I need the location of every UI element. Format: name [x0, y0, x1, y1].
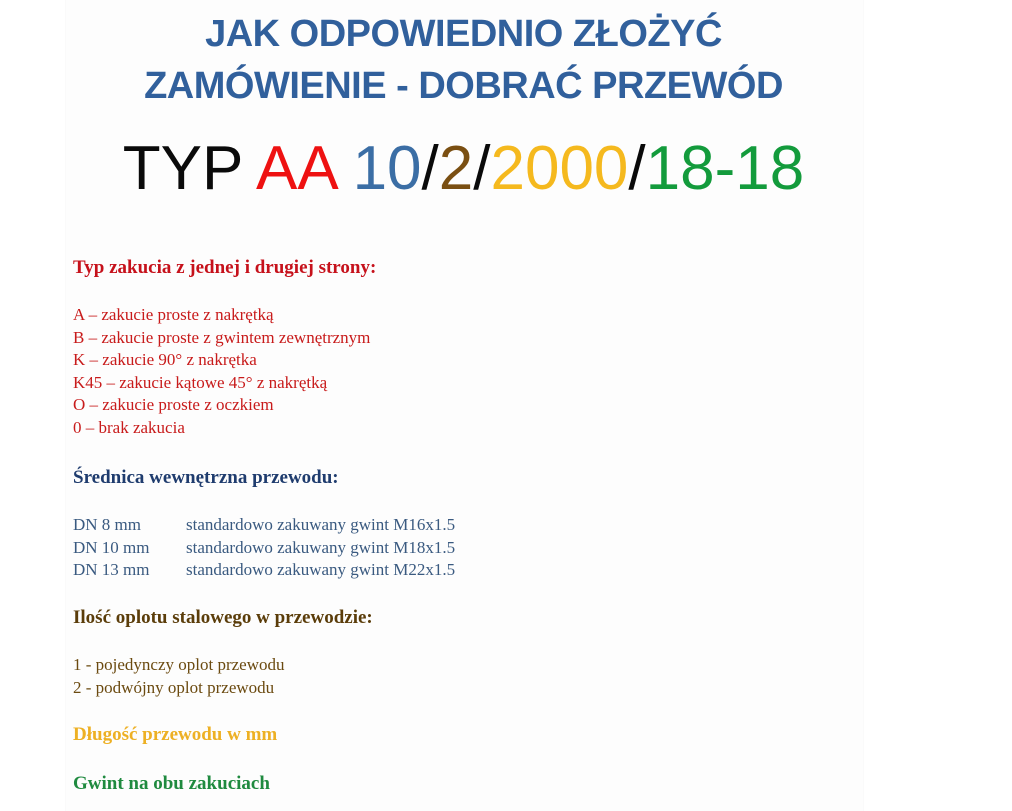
table-row: DN 8 mmstandardowo zakuwany gwint M16x1.… — [73, 514, 455, 537]
product-code-line: TYP AA 10/2/2000/18-18 — [65, 132, 862, 206]
dn-label: DN 8 mm — [73, 514, 186, 537]
code-segment-inner-diameter: 10 — [353, 134, 422, 203]
list-item: 1 - pojedynczy oplot przewodu — [73, 654, 373, 677]
dn-value: standardowo zakuwany gwint M18x1.5 — [186, 537, 455, 560]
dn-label: DN 10 mm — [73, 537, 186, 560]
section-thread-heading: Gwint na obu zakuciach — [73, 772, 270, 796]
section-fitting-type-heading: Typ zakucia z jednej i drugiej strony: — [73, 256, 376, 280]
list-item: O – zakucie proste z oczkiem — [73, 394, 376, 417]
list-item: K45 – zakucie kątowe 45° z nakrętką — [73, 372, 376, 395]
code-segment-typ: TYP — [123, 134, 256, 203]
code-segment-thread: 18-18 — [646, 134, 805, 203]
section-inner-diameter-heading: Średnica wewnętrzna przewodu: — [73, 466, 455, 490]
section-inner-diameter-body: DN 8 mmstandardowo zakuwany gwint M16x1.… — [73, 514, 455, 582]
page-title-line-2: ZAMÓWIENIE - DOBRAĆ PRZEWÓD — [65, 60, 862, 112]
list-item: B – zakucie proste z gwintem zewnętrznym — [73, 327, 376, 350]
list-item: 2 - podwójny oplot przewodu — [73, 677, 373, 700]
page-title: JAK ODPOWIEDNIO ZŁOŻYĆ ZAMÓWIENIE - DOBR… — [65, 8, 862, 112]
code-segment-slash-3: / — [628, 134, 645, 203]
dn-label: DN 13 mm — [73, 559, 186, 582]
section-braid-count: Ilość oplotu stalowego w przewodzie: 1 -… — [73, 606, 373, 699]
section-length-heading: Długość przewodu w mm — [73, 723, 277, 747]
code-segment-length: 2000 — [490, 134, 628, 203]
list-item: K – zakucie 90° z nakrętka — [73, 349, 376, 372]
code-segment-space — [335, 134, 352, 203]
code-segment-fitting-type: AA — [256, 134, 335, 203]
table-row: DN 13 mmstandardowo zakuwany gwint M22x1… — [73, 559, 455, 582]
section-inner-diameter: Średnica wewnętrzna przewodu: DN 8 mmsta… — [73, 466, 455, 582]
slide-content: JAK ODPOWIEDNIO ZŁOŻYĆ ZAMÓWIENIE - DOBR… — [0, 0, 1012, 811]
section-thread: Gwint na obu zakuciach — [73, 772, 270, 796]
page-title-line-1: JAK ODPOWIEDNIO ZŁOŻYĆ — [65, 8, 862, 60]
section-braid-count-body: 1 - pojedynczy oplot przewodu 2 - podwój… — [73, 654, 373, 699]
section-braid-count-heading: Ilość oplotu stalowego w przewodzie: — [73, 606, 373, 630]
section-length: Długość przewodu w mm — [73, 723, 277, 747]
code-segment-slash-2: / — [473, 134, 490, 203]
list-item: 0 – brak zakucia — [73, 417, 376, 440]
section-fitting-type-body: A – zakucie proste z nakrętką B – zakuci… — [73, 304, 376, 439]
code-segment-slash-1: / — [422, 134, 439, 203]
section-fitting-type: Typ zakucia z jednej i drugiej strony: A… — [73, 256, 376, 439]
list-item: A – zakucie proste z nakrętką — [73, 304, 376, 327]
code-segment-braid-count: 2 — [439, 134, 473, 203]
dn-value: standardowo zakuwany gwint M16x1.5 — [186, 514, 455, 537]
dn-value: standardowo zakuwany gwint M22x1.5 — [186, 559, 455, 582]
table-row: DN 10 mmstandardowo zakuwany gwint M18x1… — [73, 537, 455, 560]
